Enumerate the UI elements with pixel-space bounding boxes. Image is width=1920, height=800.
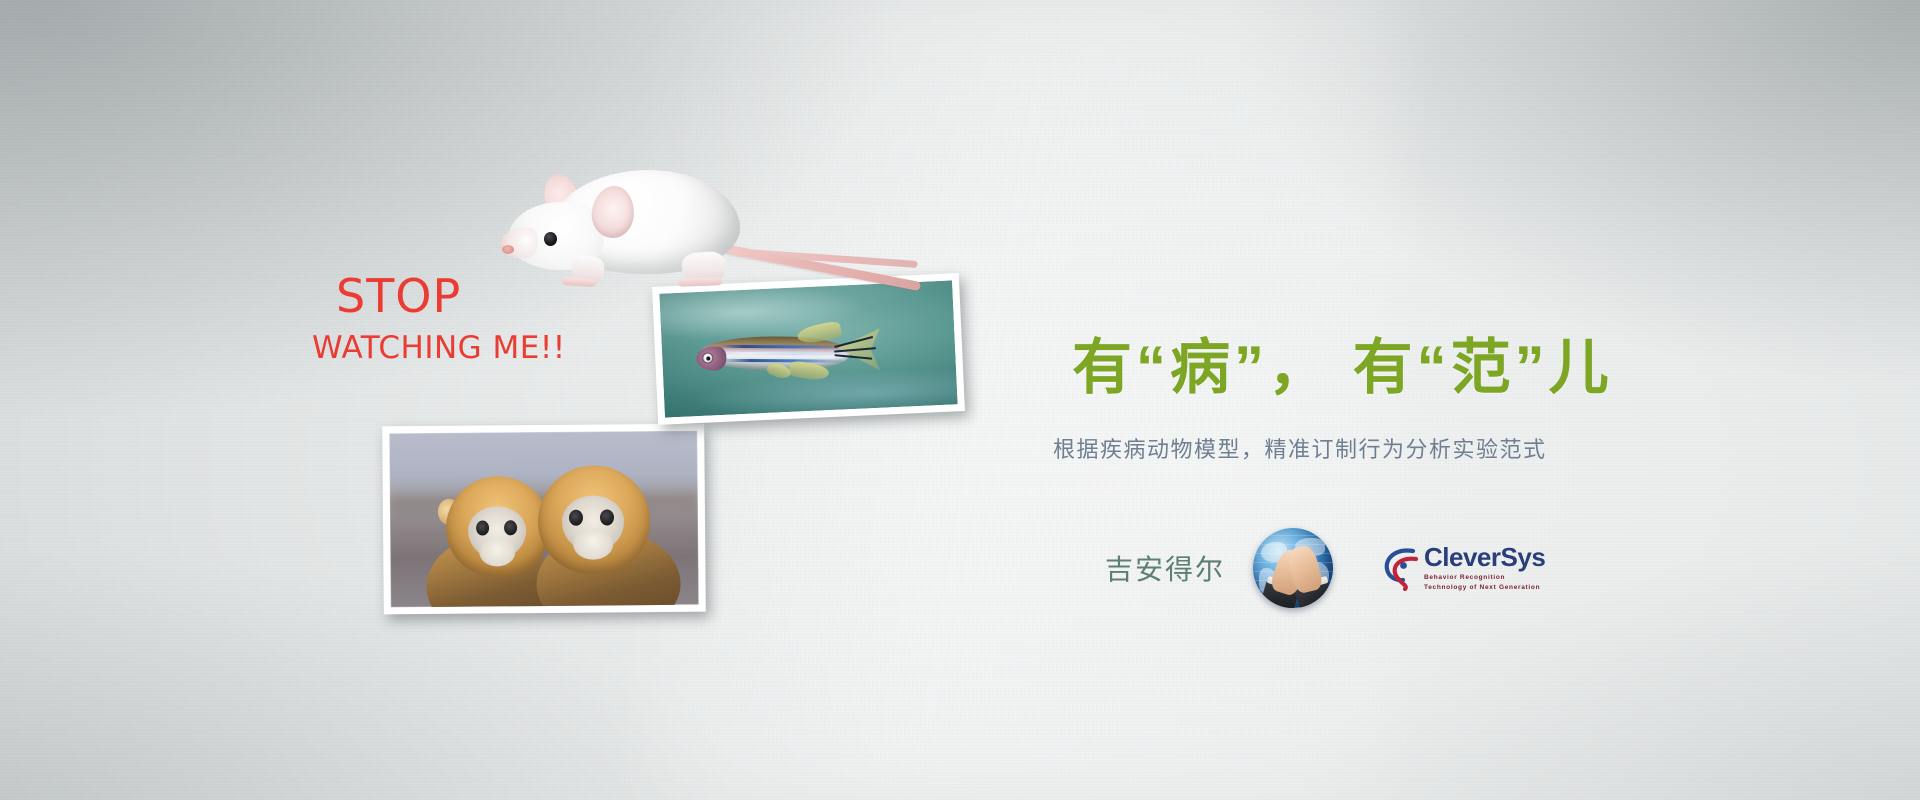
- golden-monkey-photo[interactable]: [382, 424, 706, 615]
- mouse-hind-foot: [678, 277, 722, 287]
- cleversys-wordmark: CleverSys Behavior Recognition Technolog…: [1424, 544, 1545, 593]
- monkey-right-eye-left: [569, 510, 583, 526]
- monkey-right-eye-right: [600, 509, 614, 525]
- golden-monkey-photo-image: [389, 431, 699, 608]
- cleversys-tagline-line2: Technology of Next Generation: [1424, 583, 1545, 593]
- stop-watching-me-callout: STOP WATCHING ME!!: [308, 272, 608, 366]
- monkey-left-eye-right: [504, 520, 517, 535]
- mouse-eye: [544, 232, 557, 246]
- cleversys-name-sys: Sys: [1501, 542, 1546, 572]
- monkey-right-snout: [573, 531, 613, 559]
- cleversys-tagline: Behavior Recognition Technology of Next …: [1424, 573, 1545, 593]
- monkey-left-eye-left: [476, 520, 489, 535]
- monkey-left-snout: [479, 540, 515, 566]
- cleversys-name-clever: Clever: [1424, 542, 1501, 572]
- hero-banner: STOP WATCHING ME!! 有“病”， 有“范”儿 根据疾病动物模型，…: [0, 0, 1920, 800]
- monkey-left-head: [446, 476, 551, 577]
- subtitle: 根据疾病动物模型，精准订制行为分析实验范式: [1053, 432, 1547, 464]
- cleversys-swoosh-icon: [1383, 545, 1421, 591]
- cleversys-name: CleverSys: [1424, 544, 1545, 570]
- logo-row: 吉安得尔 CleverSys: [1105, 528, 1545, 608]
- cleversys-tagline-line1: Behavior Recognition: [1424, 573, 1545, 583]
- mouse-nose: [502, 245, 514, 254]
- headline: 有“病”， 有“范”儿: [1072, 338, 1613, 398]
- cleversys-logo[interactable]: CleverSys Behavior Recognition Technolog…: [1383, 544, 1545, 593]
- brand-name-cn[interactable]: 吉安得尔: [1105, 548, 1225, 588]
- monkey-scene: [389, 431, 699, 608]
- monkey-right-head: [538, 465, 651, 574]
- stop-callout-line2: WATCHING ME!!: [312, 330, 608, 366]
- globe-handshake-logo[interactable]: [1253, 528, 1333, 608]
- stop-callout-line1: STOP: [336, 272, 608, 320]
